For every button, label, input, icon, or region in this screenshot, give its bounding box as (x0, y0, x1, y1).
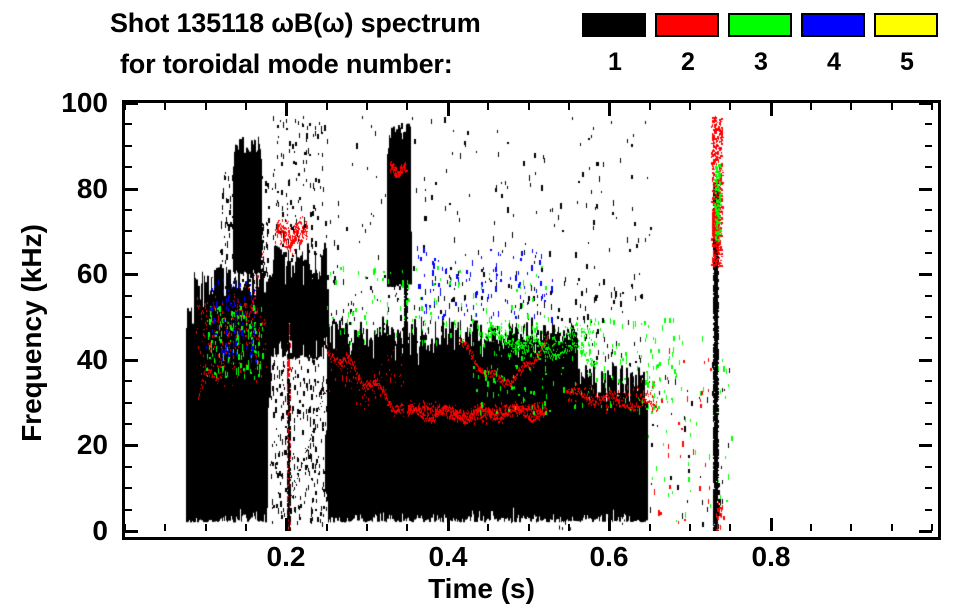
spectrogram-figure: Shot 135118 ωB(ω) spectrum for toroidal … (0, 0, 963, 615)
x-minor-tick (568, 524, 570, 531)
x-minor-tick (326, 524, 328, 531)
y-major-tick (125, 359, 138, 362)
legend-swatch-mode-2 (655, 13, 719, 37)
x-minor-tick-top (487, 103, 489, 110)
x-axis-title: Time (s) (0, 573, 963, 605)
y-major-tick (125, 188, 138, 191)
y-minor-tick-right (925, 423, 932, 425)
y-minor-tick (125, 423, 132, 425)
legend-item-mode-1: 1 (582, 13, 648, 75)
x-minor-tick-top (205, 103, 207, 110)
x-major-tick (770, 518, 773, 531)
x-major-tick-top (608, 103, 611, 116)
y-major-tick-right (919, 188, 932, 191)
y-minor-tick (125, 209, 132, 211)
x-minor-tick (729, 524, 731, 531)
x-minor-tick (528, 524, 530, 531)
legend-swatch-mode-4 (801, 13, 865, 37)
y-minor-tick (125, 230, 132, 232)
x-minor-tick-top (568, 103, 570, 110)
y-minor-tick (125, 509, 132, 511)
x-minor-tick-top (689, 103, 691, 110)
y-major-tick (125, 530, 138, 533)
y-major-tick-right (919, 530, 932, 533)
y-minor-tick-right (925, 123, 932, 125)
y-major-tick-right (919, 444, 932, 447)
x-minor-tick (487, 524, 489, 531)
x-minor-tick (810, 524, 812, 531)
y-minor-tick (125, 316, 132, 318)
x-minor-tick-top (164, 103, 166, 110)
legend-item-mode-3: 3 (728, 13, 794, 75)
x-major-tick-top (447, 103, 450, 116)
y-minor-tick-right (925, 316, 932, 318)
figure-title-line-2: for toroidal mode number: (120, 49, 453, 80)
y-major-tick-right (919, 359, 932, 362)
figure-title-line-1: Shot 135118 ωB(ω) spectrum (110, 8, 481, 39)
x-minor-tick-top (326, 103, 328, 110)
x-minor-tick-top (528, 103, 530, 110)
y-minor-tick (125, 145, 132, 147)
legend-item-mode-2: 2 (655, 13, 721, 75)
y-minor-tick-right (925, 509, 932, 511)
x-minor-tick-top (891, 103, 893, 110)
x-minor-tick-top (850, 103, 852, 110)
legend-swatch-mode-5 (874, 13, 938, 37)
x-tick-label: 0.8 (752, 541, 791, 573)
x-major-tick-top (770, 103, 773, 116)
y-minor-tick-right (925, 252, 932, 254)
y-minor-tick-right (925, 145, 932, 147)
y-minor-tick (125, 466, 132, 468)
y-major-tick-right (919, 102, 932, 105)
legend-label-mode-2: 2 (655, 50, 721, 75)
x-minor-tick (689, 524, 691, 531)
y-minor-tick-right (925, 466, 932, 468)
x-minor-tick (164, 524, 166, 531)
x-minor-tick-top (406, 103, 408, 110)
y-minor-tick-right (925, 402, 932, 404)
y-minor-tick (125, 402, 132, 404)
y-minor-tick-right (925, 166, 932, 168)
y-minor-tick (125, 166, 132, 168)
legend-swatch-mode-1 (582, 13, 646, 37)
y-minor-tick (125, 252, 132, 254)
y-minor-tick-right (925, 487, 932, 489)
legend-label-mode-4: 4 (801, 50, 867, 75)
x-minor-tick (245, 524, 247, 531)
x-minor-tick-top (245, 103, 247, 110)
y-minor-tick (125, 123, 132, 125)
mode-number-legend: 12345 (582, 13, 952, 83)
legend-item-mode-4: 4 (801, 13, 867, 75)
y-major-tick (125, 102, 138, 105)
x-tick-label: 0.4 (429, 541, 468, 573)
spectrogram-canvas (125, 103, 932, 531)
y-minor-tick (125, 295, 132, 297)
y-minor-tick (125, 337, 132, 339)
x-minor-tick-top (810, 103, 812, 110)
x-major-tick (608, 518, 611, 531)
y-minor-tick-right (925, 380, 932, 382)
legend-label-mode-1: 1 (582, 50, 648, 75)
y-major-tick-right (919, 273, 932, 276)
legend-label-mode-3: 3 (728, 50, 794, 75)
y-major-tick (125, 273, 138, 276)
x-minor-tick (649, 524, 651, 531)
y-minor-tick (125, 380, 132, 382)
x-minor-tick (366, 524, 368, 531)
y-axis-title: Frequency (kHz) (16, 143, 48, 523)
y-minor-tick-right (925, 230, 932, 232)
x-major-tick (285, 518, 288, 531)
plot-area (122, 100, 941, 540)
x-minor-tick (850, 524, 852, 531)
legend-item-mode-5: 5 (874, 13, 940, 75)
legend-label-mode-5: 5 (874, 50, 940, 75)
x-minor-tick-top (366, 103, 368, 110)
x-tick-label: 0.6 (590, 541, 629, 573)
x-major-tick (447, 518, 450, 531)
y-minor-tick-right (925, 337, 932, 339)
y-tick-label: 100 (0, 87, 108, 119)
x-minor-tick-top (649, 103, 651, 110)
y-minor-tick (125, 487, 132, 489)
x-major-tick-top (285, 103, 288, 116)
x-minor-tick (406, 524, 408, 531)
y-minor-tick-right (925, 295, 932, 297)
y-minor-tick-right (925, 209, 932, 211)
legend-swatch-mode-3 (728, 13, 792, 37)
x-minor-tick (891, 524, 893, 531)
x-minor-tick-top (729, 103, 731, 110)
x-minor-tick (205, 524, 207, 531)
y-major-tick (125, 444, 138, 447)
x-tick-label: 0.2 (267, 541, 306, 573)
